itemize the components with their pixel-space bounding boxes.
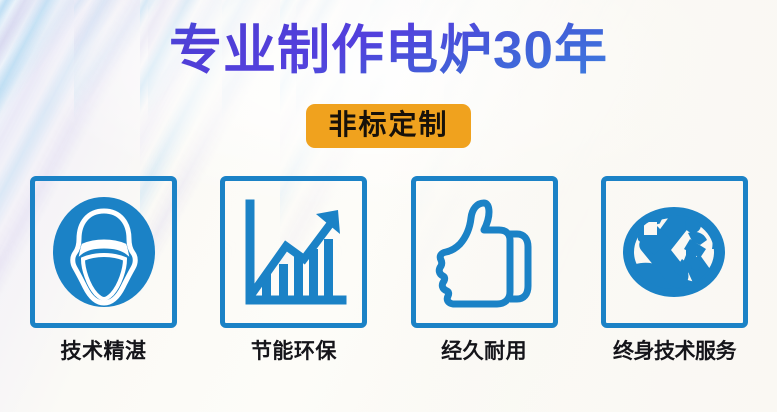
feature-caption-3: 经久耐用	[411, 338, 558, 366]
custom-made-badge: 非标定制	[306, 104, 470, 148]
feature-box-4	[601, 176, 748, 328]
feature-box-1	[30, 176, 177, 328]
feature-caption-row: 技术精湛 节能环保 经久耐用 终身技术服务	[30, 338, 748, 366]
feature-caption-1: 技术精湛	[30, 338, 177, 366]
safety-helmet-worker-icon	[48, 193, 160, 311]
growth-bar-chart-arrow-icon	[238, 196, 350, 308]
feature-box-2	[220, 176, 367, 328]
promo-banner: 专业制作电炉30年 非标定制	[0, 0, 777, 412]
feature-icon-row	[30, 176, 748, 328]
wrench-globe-service-icon	[614, 197, 734, 307]
feature-caption-4: 终身技术服务	[601, 338, 748, 366]
feature-caption-2: 节能环保	[220, 338, 367, 366]
feature-box-3	[411, 176, 558, 328]
badge-container: 非标定制	[0, 104, 777, 148]
banner-title: 专业制作电炉30年	[0, 20, 777, 82]
thumbs-up-icon	[429, 194, 539, 310]
